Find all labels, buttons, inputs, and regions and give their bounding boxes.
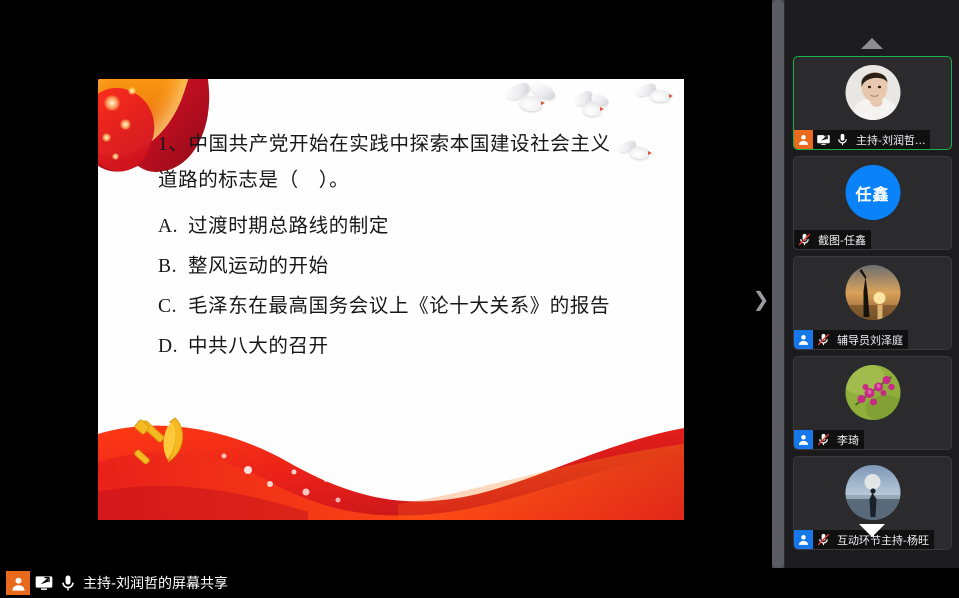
option-b-letter: B. [158, 247, 188, 287]
option-a-text: 过渡时期总路线的制定 [188, 216, 389, 237]
option-d-letter: D. [158, 327, 188, 367]
avatar [845, 465, 900, 520]
white-doves-decoration [508, 85, 554, 119]
option-c-letter: C. [158, 287, 188, 327]
mic-off-icon[interactable] [816, 332, 832, 348]
slide-text-block: 1、中国共产党开始在实践中探索本国建设社会主义 道路的标志是（ ）。 A.过渡时… [158, 127, 666, 367]
white-dove-2 [574, 93, 610, 123]
person-icon [794, 430, 813, 449]
triangle-down-icon[interactable] [859, 524, 885, 537]
sharing-status-bar: 主持-刘润哲的屏幕共享 [0, 568, 959, 598]
participant-name: 截图-任鑫 [818, 232, 866, 248]
mic-on-icon[interactable] [835, 132, 851, 148]
participants-panel: 主持-刘润哲...任鑫截图-任鑫辅导员刘泽庭李琦互动环节主持-杨旺 [784, 0, 959, 568]
expand-panel-chevron-icon[interactable]: ❯ [752, 290, 770, 308]
option-a-letter: A. [158, 207, 188, 247]
option-c: C.毛泽东在最高国务会议上《论十大关系》的报告 [158, 287, 666, 327]
participant-namebar: 主持-刘润哲... [794, 130, 930, 149]
participant-name: 主持-刘润哲... [856, 132, 925, 148]
person-icon [794, 130, 813, 149]
participant-namebar: 李琦 [794, 430, 864, 449]
person-icon [794, 530, 813, 549]
participant-tiles: 主持-刘润哲...任鑫截图-任鑫辅导员刘泽庭李琦互动环节主持-杨旺 [793, 56, 952, 556]
question-line-1: 1、中国共产党开始在实践中探索本国建设社会主义 [158, 127, 666, 163]
option-d: D.中共八大的召开 [158, 327, 666, 367]
stage-scrollbar-thumb[interactable] [772, 0, 784, 568]
option-b: B.整风运动的开始 [158, 247, 666, 287]
participant-name: 辅导员刘泽庭 [837, 332, 903, 348]
hammer-and-sickle-emblem [128, 410, 198, 480]
avatar: 任鑫 [845, 165, 900, 220]
option-d-text: 中共八大的召开 [188, 336, 329, 357]
participant-tile[interactable]: 李琦 [793, 356, 952, 450]
mic-off-icon[interactable] [797, 232, 813, 248]
zoom-meeting-window: 1、中国共产党开始在实践中探索本国建设社会主义 道路的标志是（ ）。 A.过渡时… [0, 0, 959, 598]
person-icon [6, 571, 30, 595]
question-line-2: 道路的标志是（ ）。 [158, 163, 666, 199]
avatar [845, 365, 900, 420]
shared-slide: 1、中国共产党开始在实践中探索本国建设社会主义 道路的标志是（ ）。 A.过渡时… [98, 79, 684, 520]
person-icon [794, 330, 813, 349]
sharing-status-text: 主持-刘润哲的屏幕共享 [83, 573, 228, 593]
avatar [845, 265, 900, 320]
screen-share-icon [816, 132, 832, 148]
option-c-text: 毛泽东在最高国务会议上《论十大关系》的报告 [188, 296, 610, 317]
participant-namebar: 辅导员刘泽庭 [794, 330, 908, 349]
participant-name: 李琦 [837, 432, 859, 448]
participant-tile[interactable]: 任鑫截图-任鑫 [793, 156, 952, 250]
participant-namebar: 截图-任鑫 [794, 230, 871, 249]
participant-tile[interactable]: 辅导员刘泽庭 [793, 256, 952, 350]
screen-share-icon [34, 573, 54, 593]
mic-on-icon [58, 573, 78, 593]
mic-off-icon[interactable] [816, 532, 832, 548]
shared-screen-stage: 1、中国共产党开始在实践中探索本国建设社会主义 道路的标志是（ ）。 A.过渡时… [0, 0, 784, 568]
mic-off-icon[interactable] [816, 432, 832, 448]
stage-scrollbar[interactable] [772, 0, 784, 568]
triangle-up-icon[interactable] [861, 38, 883, 49]
participant-tile[interactable]: 主持-刘润哲... [793, 56, 952, 150]
option-b-text: 整风运动的开始 [188, 256, 329, 277]
red-wave-decoration [98, 400, 684, 520]
option-a: A.过渡时期总路线的制定 [158, 207, 666, 247]
white-dove-3 [636, 83, 674, 111]
avatar [845, 65, 900, 120]
